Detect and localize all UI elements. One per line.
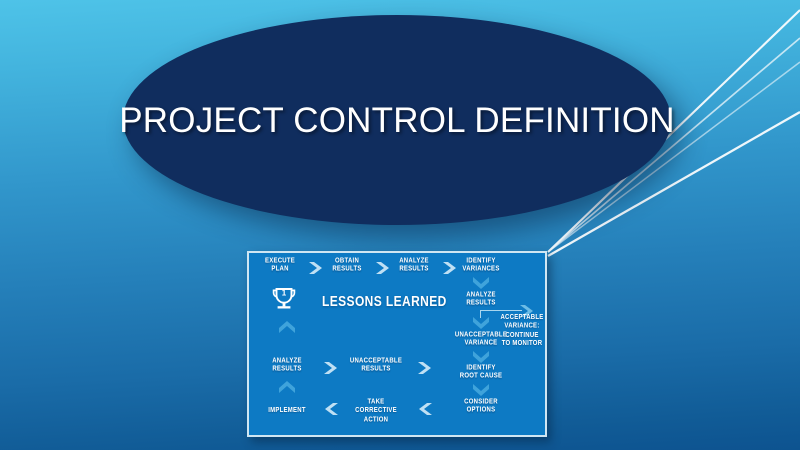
chevron-right-icon	[321, 361, 341, 375]
node-obtain-results: OBTAIN RESULTS	[324, 258, 370, 275]
chevron-right-icon	[306, 261, 326, 275]
title-ellipse: PROJECT CONTROL DEFINITION	[123, 15, 671, 225]
chevron-right-icon	[415, 361, 435, 375]
chevron-right-icon	[373, 261, 393, 275]
node-take-corrective-action: TAKE CORRECTIVE ACTION	[344, 399, 408, 425]
node-identify-root-cause: IDENTIFY ROOT CAUSE	[449, 365, 513, 382]
node-unacceptable-results: UNACCEPTABLE RESULTS	[343, 358, 409, 375]
node-unacceptable-variance: UNACCEPTABLE VARIANCE	[447, 332, 515, 349]
project-control-cycle-diagram: EXECUTE PLAN OBTAIN RESULTS ANALYZE RESU…	[247, 251, 547, 437]
node-analyze-results-mid: ANALYZE RESULTS	[262, 358, 312, 375]
chevron-left-icon	[321, 402, 341, 416]
slide-canvas: PROJECT CONTROL DEFINITION EXECUTE PLAN …	[0, 0, 800, 450]
node-identify-variances: IDENTIFY VARIANCES	[455, 258, 507, 275]
chevron-up-icon	[277, 381, 297, 395]
node-analyze-results-top: ANALYZE RESULTS	[391, 258, 437, 275]
node-consider-options: CONSIDER OPTIONS	[453, 399, 509, 416]
node-execute-plan: EXECUTE PLAN	[257, 258, 303, 275]
connector-line	[480, 310, 522, 311]
page-title: PROJECT CONTROL DEFINITION	[119, 101, 675, 141]
node-analyze-results-branch: ANALYZE RESULTS	[455, 292, 507, 309]
trophy-icon: 1	[271, 286, 297, 312]
chevron-up-icon	[277, 321, 297, 335]
lessons-learned-label: LESSONS LEARNED	[322, 292, 447, 309]
chevron-down-icon	[471, 275, 491, 289]
chevron-down-icon	[471, 315, 491, 329]
node-implement: IMPLEMENT	[260, 407, 314, 416]
chevron-left-icon	[415, 402, 435, 416]
svg-text:1: 1	[282, 289, 287, 298]
chevron-down-icon	[471, 382, 491, 396]
chevron-down-icon	[471, 349, 491, 363]
